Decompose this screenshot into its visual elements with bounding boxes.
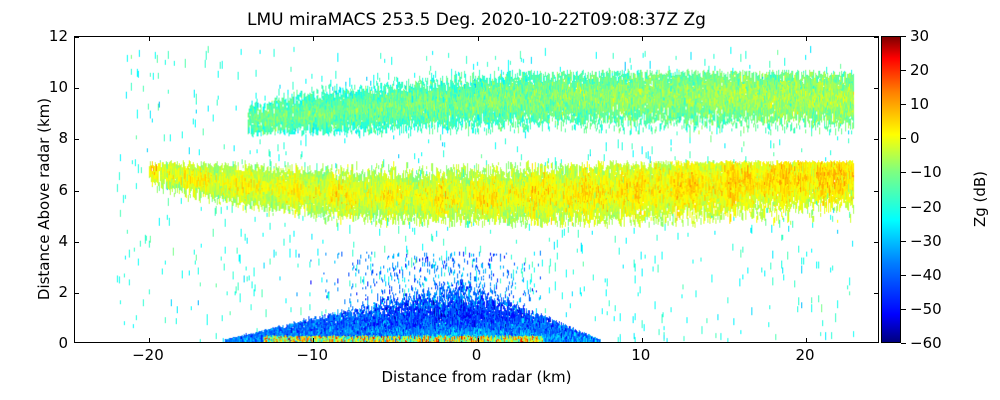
radar-reflectivity-data xyxy=(75,37,878,342)
x-tick-label: 20 xyxy=(796,346,815,364)
y-tick-label: 8 xyxy=(58,129,68,147)
plot-axes xyxy=(74,36,879,343)
y-tick xyxy=(75,139,79,140)
y-tick-label: 6 xyxy=(58,181,68,199)
radar-rhi-figure: LMU miraMACS 253.5 Deg. 2020-10-22T09:08… xyxy=(0,0,1000,400)
x-tick xyxy=(642,338,643,342)
colorbar-tick xyxy=(901,172,906,173)
y-tick-label: 0 xyxy=(58,334,68,352)
colorbar-tick xyxy=(901,309,906,310)
x-axis-label: Distance from radar (km) xyxy=(74,368,879,386)
y-tick xyxy=(75,191,79,192)
colorbar-tick xyxy=(901,207,906,208)
colorbar-tick xyxy=(901,241,906,242)
colorbar-tick xyxy=(901,104,906,105)
y-tick xyxy=(874,293,878,294)
colorbar-tick-label: 10 xyxy=(910,95,929,113)
x-tick xyxy=(149,338,150,342)
x-tick xyxy=(149,37,150,41)
x-tick xyxy=(313,338,314,342)
colorbar-tick xyxy=(901,343,906,344)
x-tick-label: −20 xyxy=(132,346,164,364)
x-tick xyxy=(478,37,479,41)
y-tick xyxy=(874,191,878,192)
y-tick-label: 2 xyxy=(58,283,68,301)
y-tick xyxy=(874,88,878,89)
colorbar-tick-label: 20 xyxy=(910,61,929,79)
colorbar-tick-label: −40 xyxy=(910,266,942,284)
x-tick xyxy=(478,338,479,342)
y-axis-label: Distance Above radar (km) xyxy=(35,69,53,329)
y-tick xyxy=(75,293,79,294)
y-tick xyxy=(75,242,79,243)
x-tick xyxy=(642,37,643,41)
y-tick xyxy=(874,37,878,38)
colorbar-tick-label: −10 xyxy=(910,163,942,181)
y-tick xyxy=(75,88,79,89)
colorbar-tick-label: −60 xyxy=(910,334,942,352)
colorbar-tick xyxy=(901,70,906,71)
colorbar-tick xyxy=(901,138,906,139)
colorbar-tick-label: 0 xyxy=(910,129,920,147)
y-tick xyxy=(75,37,79,38)
colorbar-tick xyxy=(901,36,906,37)
colorbar xyxy=(881,36,901,343)
colorbar-tick-label: −50 xyxy=(910,300,942,318)
y-tick xyxy=(874,242,878,243)
x-tick-label: −10 xyxy=(296,346,328,364)
y-tick-label: 10 xyxy=(49,78,68,96)
x-tick-label: 10 xyxy=(631,346,650,364)
colorbar-tick-label: −30 xyxy=(910,232,942,250)
colorbar-tick-label: 30 xyxy=(910,27,929,45)
colorbar-tick xyxy=(901,275,906,276)
page-title: LMU miraMACS 253.5 Deg. 2020-10-22T09:08… xyxy=(74,10,879,30)
y-tick-label: 12 xyxy=(49,27,68,45)
y-tick xyxy=(874,139,878,140)
colorbar-tick-label: −20 xyxy=(910,198,942,216)
colorbar-label: Zg (dB) xyxy=(971,99,989,299)
x-tick xyxy=(313,37,314,41)
x-tick-label: 0 xyxy=(472,346,482,364)
y-tick-label: 4 xyxy=(58,232,68,250)
x-tick xyxy=(806,37,807,41)
x-tick xyxy=(806,338,807,342)
